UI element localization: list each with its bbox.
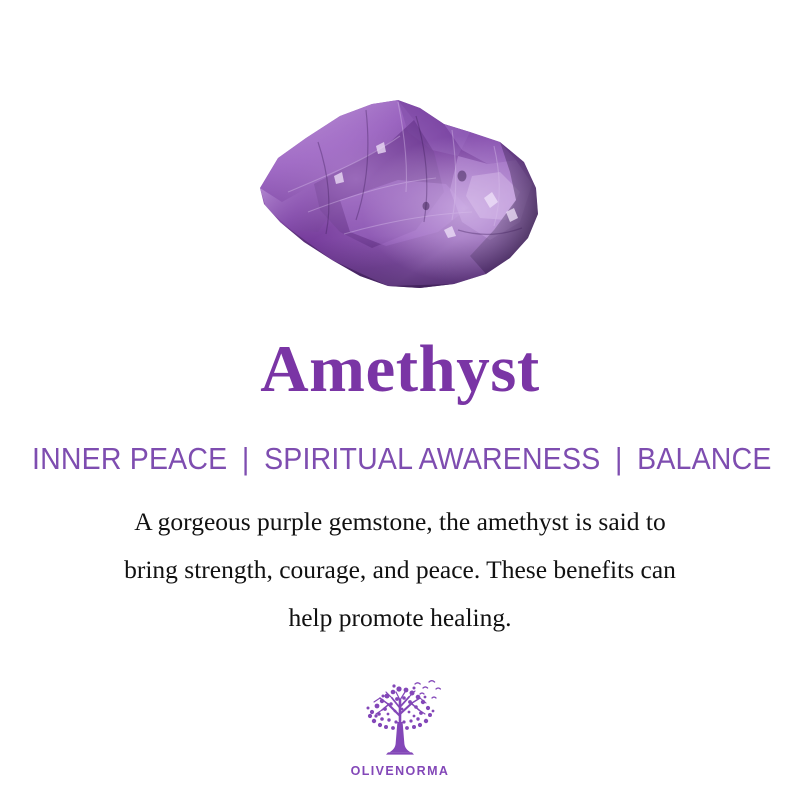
- tree-of-life-icon: [352, 678, 448, 760]
- keyword-balance: BALANCE: [637, 441, 771, 476]
- keyword-separator: |: [235, 441, 255, 476]
- description-line: help promote healing.: [50, 594, 750, 642]
- amethyst-crystal-photo: [248, 80, 548, 295]
- page-title: Amethyst: [0, 332, 800, 406]
- description-paragraph: A gorgeous purple gemstone, the amethyst…: [50, 498, 750, 642]
- keyword-strip: INNER PEACE | SPIRITUAL AWARENESS | BALA…: [32, 440, 768, 478]
- description-line: bring strength, courage, and peace. Thes…: [50, 546, 750, 594]
- amethyst-info-card: Amethyst INNER PEACE | SPIRITUAL AWARENE…: [0, 0, 800, 800]
- description-line: A gorgeous purple gemstone, the amethyst…: [50, 498, 750, 546]
- keyword-spiritual-awareness: SPIRITUAL AWARENESS: [264, 441, 600, 476]
- hero-image-area: [0, 60, 800, 310]
- keyword-inner-peace: INNER PEACE: [32, 441, 227, 476]
- brand-logo: OLIVENORMA: [0, 678, 800, 778]
- amethyst-crystal-illustration: [248, 80, 548, 295]
- keyword-separator: |: [609, 441, 629, 476]
- brand-wordmark: OLIVENORMA: [0, 764, 800, 778]
